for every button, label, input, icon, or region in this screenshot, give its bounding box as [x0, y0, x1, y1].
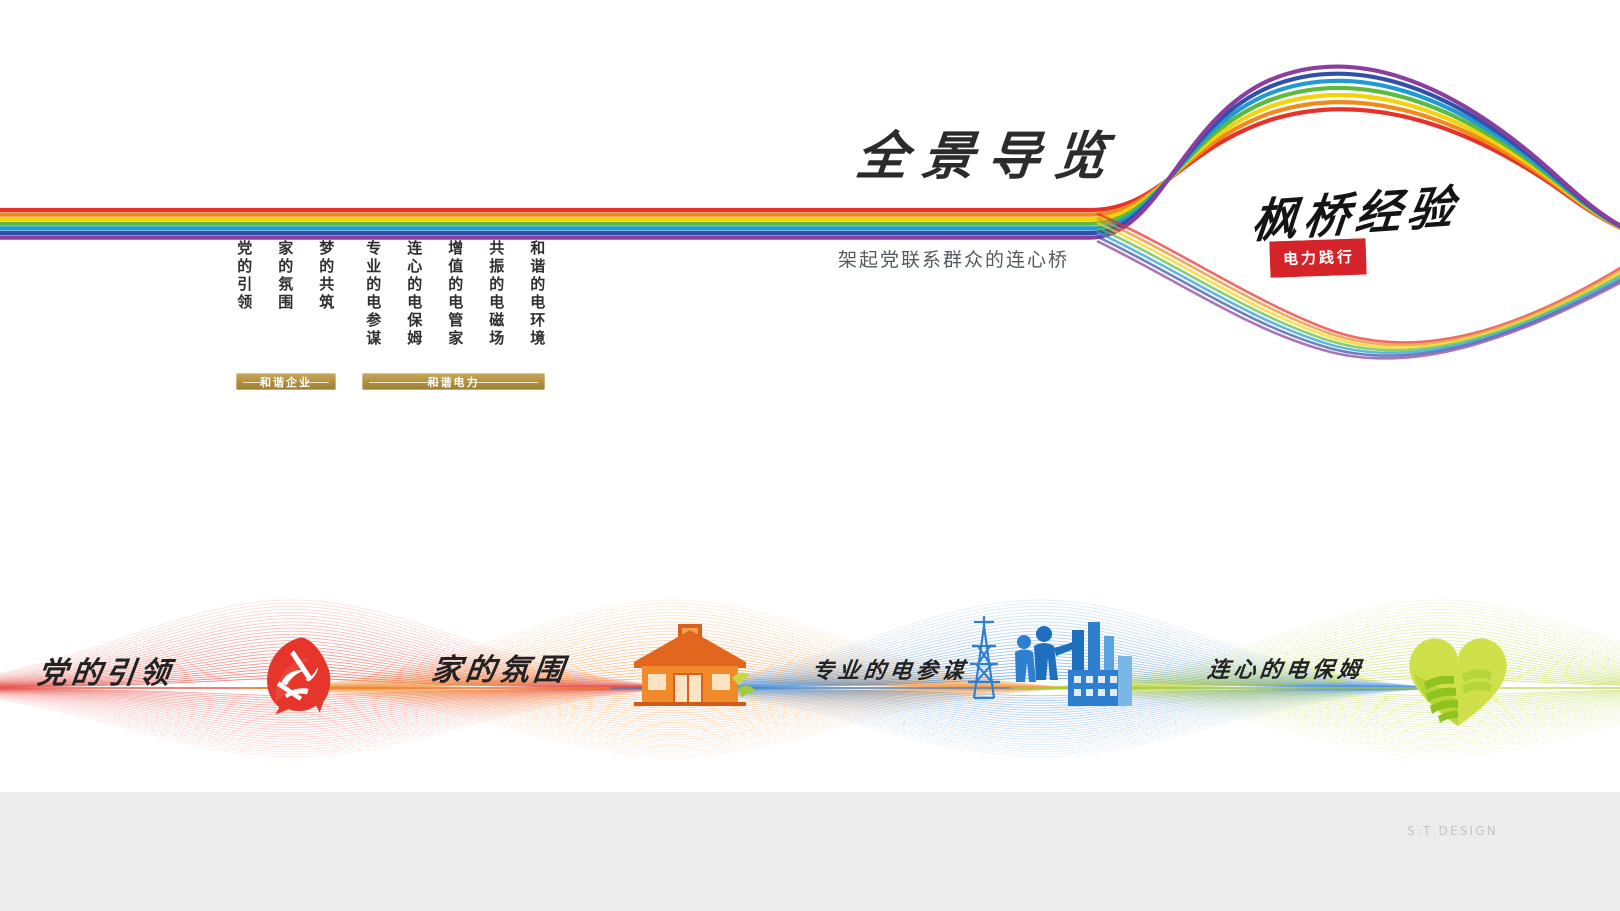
- section-label-3: 专业的电参谋: [810, 653, 970, 685]
- designer-credit: S.T DESIGN: [1407, 824, 1498, 838]
- vertical-label-2: 家的氛围: [274, 240, 295, 312]
- power-plant-icon: [968, 616, 1132, 706]
- page-title-block: 全景导览: [842, 132, 1112, 184]
- gold-banner-1: 和谐企业: [236, 373, 336, 390]
- bottom-wave-lines: [0, 0, 1620, 911]
- bottom-section-icons: [0, 0, 1620, 911]
- vertical-label-7: 共振的电磁场: [485, 240, 506, 348]
- vertical-label-3: 梦的共筑: [315, 240, 336, 312]
- section-label-4: 连心的电保姆: [1206, 652, 1366, 684]
- heart-hands-icon: [1409, 638, 1506, 726]
- house-icon: [634, 624, 756, 706]
- vertical-label-4: 专业的电参谋: [362, 240, 383, 348]
- vertical-label-1: 党的引领: [233, 240, 254, 312]
- page-title: 全景导览: [839, 132, 1114, 184]
- section-label-2: 家的氛围: [429, 645, 570, 689]
- page-subtitle: 架起党联系群众的连心桥: [838, 245, 1118, 272]
- gold-banner-2: 和谐电力: [362, 373, 545, 390]
- footer-bar: S.T DESIGN: [0, 792, 1620, 911]
- rainbow-ribbon-top: [0, 0, 1620, 911]
- brand-logo: 枫桥经验 电力践行: [1252, 178, 1492, 288]
- vertical-label-5: 连心的电保姆: [403, 240, 424, 348]
- section-label-1: 党的引领: [35, 648, 176, 692]
- brand-seal: 电力践行: [1269, 238, 1366, 277]
- party-emblem-icon: [267, 637, 330, 714]
- vertical-label-8: 和谐的电环境: [526, 240, 547, 348]
- poster-canvas: 全景导览 架起党联系群众的连心桥 枫桥经验 电力践行 党的引领家的氛围梦的共筑专…: [0, 0, 1620, 911]
- vertical-label-6: 增值的电管家: [444, 240, 465, 348]
